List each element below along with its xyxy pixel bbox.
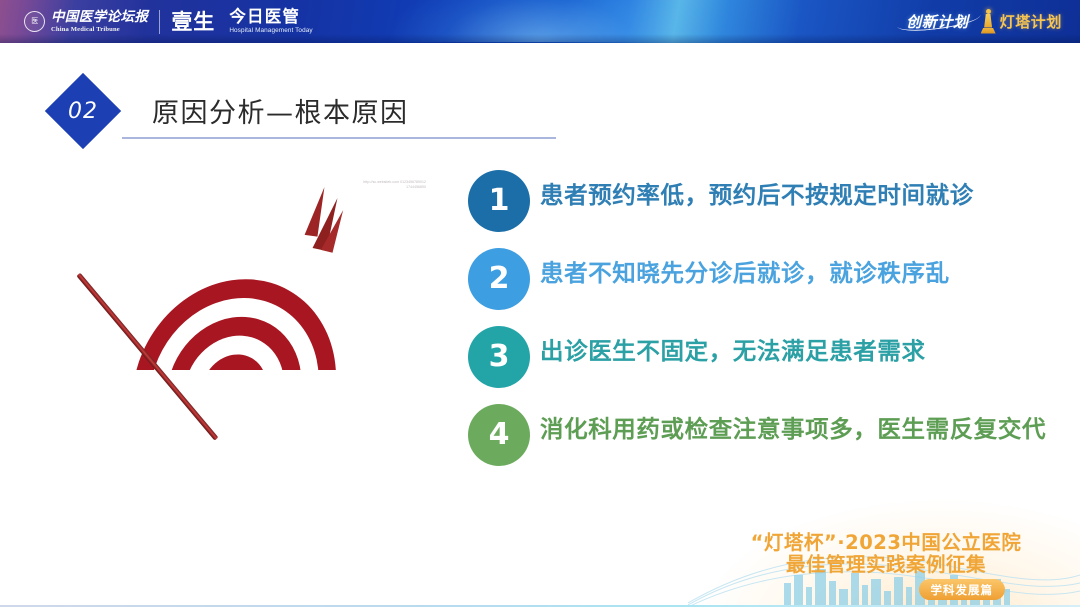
section-number-label: 02 (56, 84, 110, 138)
footer-category-badge: 学科发展篇 (919, 579, 1006, 600)
section-name-cn: 今日医管 (229, 8, 312, 26)
header-left-logos: 医 中国医学论坛报 China Medical Tribune 壹生 今日医管 … (24, 0, 313, 43)
section-name-en: Hospital Management Today (229, 26, 312, 35)
list-item-text: 患者预约率低，预约后不按规定时间就诊 (540, 170, 974, 212)
brand-ysheng-label: 壹生 (171, 10, 215, 34)
list-bullet-number: 3 (489, 342, 510, 372)
lighthouse-icon (981, 9, 996, 35)
publisher-name-en: China Medical Tribune (51, 25, 148, 34)
chuangxin-plan-logo: 创新计划 (906, 11, 968, 32)
seal-icon: 医 (24, 11, 45, 32)
list-bullet-3: 3 (468, 326, 530, 388)
image-watermark: http://sc.websiteb.com 0123456789012 174… (362, 180, 426, 190)
footer-artwork: “灯塔杯”·2023中国公立医院 最佳管理实践案例征集 学科发展篇 (688, 495, 1080, 607)
target-illustration: http://sc.websiteb.com 0123456789012 174… (118, 172, 448, 472)
list-item: 3 出诊医生不固定，无法满足患者需求 (468, 326, 1068, 400)
header-right-logos: 创新计划 灯塔计划 (906, 0, 1062, 43)
section-logo: 今日医管 Hospital Management Today (229, 8, 312, 35)
list-bullet-1: 1 (468, 170, 530, 232)
page-title: 原因分析—根本原因 (152, 96, 409, 132)
root-cause-list: 1 患者预约率低，预约后不按规定时间就诊 2 患者不知晓先分诊后就诊，就诊秩序乱… (468, 170, 1068, 482)
slide-root: 医 中国医学论坛报 China Medical Tribune 壹生 今日医管 … (0, 0, 1080, 607)
list-item: 4 消化科用药或检查注意事项多，医生需反复交代 (468, 404, 1068, 478)
list-bullet-number: 4 (489, 420, 510, 450)
top-header-bar: 医 中国医学论坛报 China Medical Tribune 壹生 今日医管 … (0, 0, 1080, 43)
header-divider (159, 10, 160, 34)
dengta-plan-label: 灯塔计划 (1000, 11, 1062, 32)
list-item: 2 患者不知晓先分诊后就诊，就诊秩序乱 (468, 248, 1068, 322)
dengta-plan-logo: 灯塔计划 (981, 9, 1062, 35)
publisher-name-cn: 中国医学论坛报 (51, 10, 148, 25)
title-underline (122, 137, 556, 139)
list-bullet-number: 2 (489, 264, 510, 294)
list-bullet-number: 1 (489, 186, 510, 216)
publisher-logo: 中国医学论坛报 China Medical Tribune (51, 10, 148, 34)
footer-title-line1: “灯塔杯”·2023中国公立医院 (726, 531, 1046, 555)
chuangxin-plan-label: 创新计划 (906, 11, 968, 32)
list-bullet-2: 2 (468, 248, 530, 310)
list-bullet-4: 4 (468, 404, 530, 466)
footer-title-line2: 最佳管理实践案例征集 (726, 553, 1046, 577)
list-item-text: 出诊医生不固定，无法满足患者需求 (540, 326, 926, 368)
seal-icon-label: 医 (31, 18, 38, 25)
list-item-text: 患者不知晓先分诊后就诊，就诊秩序乱 (540, 248, 950, 290)
list-item: 1 患者预约率低，预约后不按规定时间就诊 (468, 170, 1068, 244)
section-number-badge: 02 (45, 73, 121, 149)
list-item-text: 消化科用药或检查注意事项多，医生需反复交代 (540, 404, 1046, 446)
